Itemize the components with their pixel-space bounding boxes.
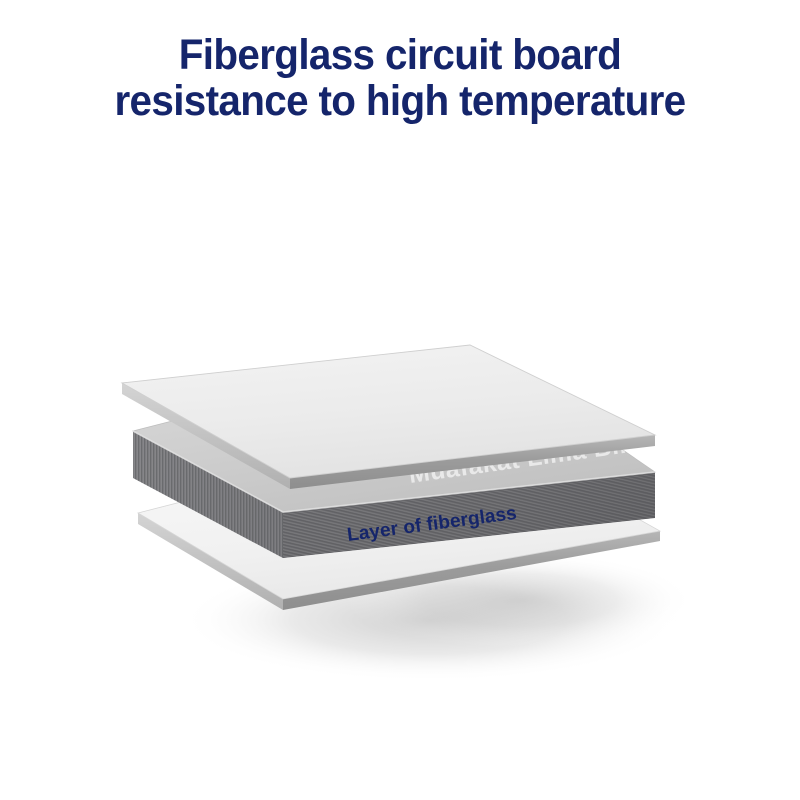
fiberglass-board-illustration: Muafakat Lima Bintang Layer of fiberglas…	[0, 0, 800, 800]
exploded-board-svg: Muafakat Lima Bintang Layer of fiberglas…	[0, 0, 800, 800]
image-canvas: Fiberglass circuit board resistance to h…	[0, 0, 800, 800]
